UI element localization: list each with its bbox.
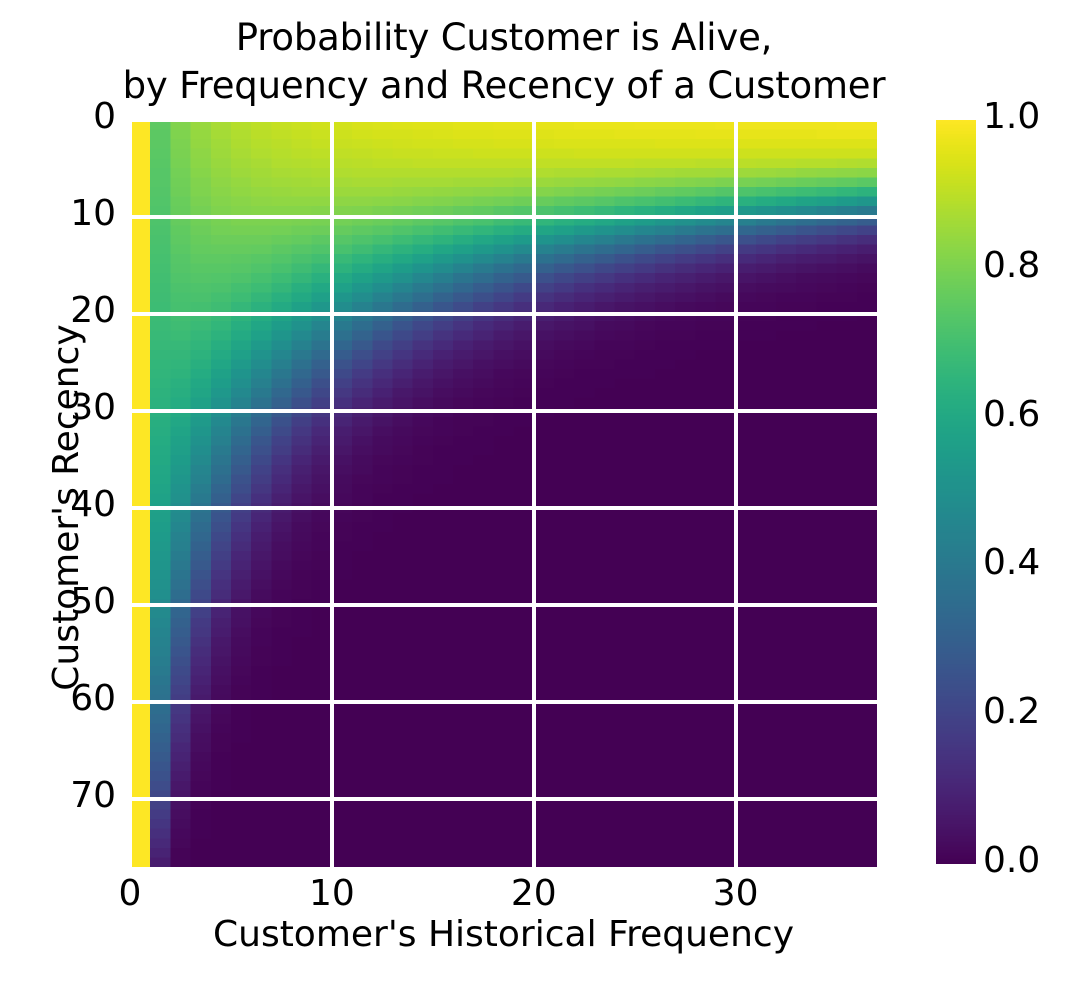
colorbar[interactable] [936,120,976,864]
chart-figure: Probability Customer is Alive, by Freque… [0,0,1065,983]
colorbar-tick-label: 1.0 [983,96,1040,137]
chart-title: Probability Customer is Alive, by Freque… [0,14,1008,110]
x-tick-label: 0 [70,873,190,914]
heatmap-plot-area[interactable] [130,120,877,867]
heatmap-canvas [130,120,877,867]
x-axis-label: Customer's Historical Frequency [130,914,877,955]
colorbar-gradient [936,120,976,864]
colorbar-tick-label: 0.2 [983,691,1040,732]
colorbar-tick-label: 0.4 [983,542,1040,583]
x-tick-label: 10 [272,873,392,914]
x-tick-label: 20 [474,873,594,914]
y-tick-label: 0 [0,96,116,137]
y-axis-label: Customer's Recency [46,134,87,881]
colorbar-tick-label: 0.8 [983,245,1040,286]
colorbar-tick-label: 0.0 [983,840,1040,881]
colorbar-tick-label: 0.6 [983,394,1040,435]
x-tick-label: 30 [676,873,796,914]
